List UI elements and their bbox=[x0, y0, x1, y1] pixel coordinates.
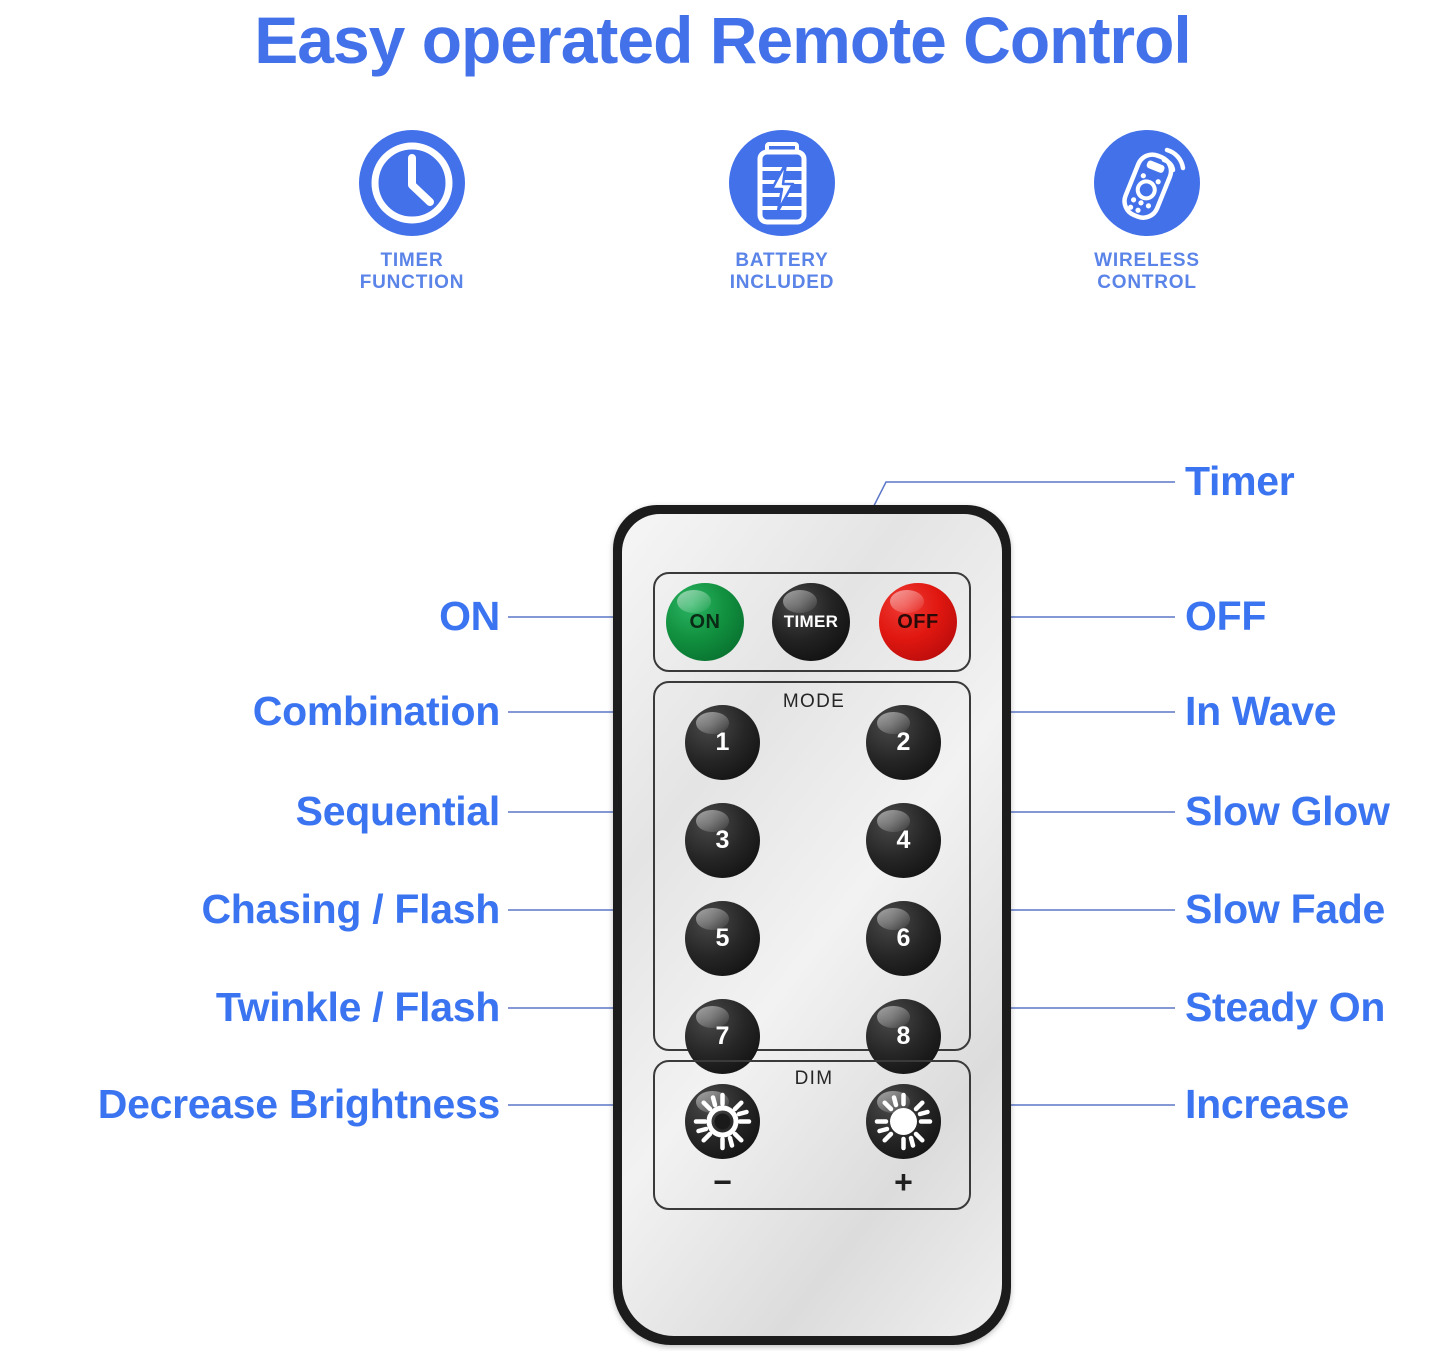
feature-caption: BATTERY INCLUDED bbox=[652, 250, 912, 294]
callout-off: OFF bbox=[1185, 596, 1266, 637]
feature-caption-line2: CONTROL bbox=[1017, 272, 1277, 294]
timer-button[interactable]: TIMER bbox=[772, 583, 850, 661]
callout-sequential: Sequential bbox=[0, 791, 500, 832]
page-title: Easy operated Remote Control bbox=[0, 2, 1445, 78]
dim-increase-sign: + bbox=[866, 1166, 941, 1198]
brightness-high-icon bbox=[866, 1084, 941, 1159]
feature-caption-line2: INCLUDED bbox=[652, 272, 912, 294]
feature-badges: TIMER FUNCTION BATTERY INCLUDED bbox=[0, 130, 1445, 320]
remote-faceplate: ON TIMER OFF MODE 1 2 3 4 5 6 7 8 DIM bbox=[622, 514, 1002, 1336]
callout-twinkle-flash: Twinkle / Flash bbox=[0, 987, 500, 1028]
feature-timer-function: TIMER FUNCTION bbox=[282, 130, 542, 294]
feature-wireless-control: WIRELESS CONTROL bbox=[1017, 130, 1277, 294]
callout-slow-glow: Slow Glow bbox=[1185, 791, 1390, 832]
brightness-high-icon-button[interactable] bbox=[866, 1084, 941, 1159]
callout-decrease-brightness: Decrease Brightness bbox=[0, 1084, 500, 1125]
callout-in-wave: In Wave bbox=[1185, 691, 1336, 732]
callout-slow-fade: Slow Fade bbox=[1185, 889, 1385, 930]
remote-signal-icon bbox=[1094, 130, 1200, 236]
mode-button-3[interactable]: 3 bbox=[685, 803, 760, 878]
feature-caption-line2: FUNCTION bbox=[282, 272, 542, 294]
mode-panel: MODE 1 2 3 4 5 6 7 8 bbox=[653, 681, 971, 1051]
callout-timer: Timer bbox=[1185, 461, 1294, 502]
brightness-low-icon bbox=[685, 1084, 760, 1159]
mode-button-5[interactable]: 5 bbox=[685, 901, 760, 976]
dim-decrease-sign: − bbox=[685, 1166, 760, 1198]
clock-icon bbox=[359, 130, 465, 236]
mode-button-2[interactable]: 2 bbox=[866, 705, 941, 780]
feature-caption-line1: WIRELESS bbox=[1017, 250, 1277, 272]
mode-button-1[interactable]: 1 bbox=[685, 705, 760, 780]
off-button[interactable]: OFF bbox=[879, 583, 957, 661]
feature-battery-included: BATTERY INCLUDED bbox=[652, 130, 912, 294]
feature-caption: WIRELESS CONTROL bbox=[1017, 250, 1277, 294]
callout-increase: Increase bbox=[1185, 1084, 1349, 1125]
callout-on: ON bbox=[0, 596, 500, 637]
callout-chasing-flash: Chasing / Flash bbox=[0, 889, 500, 930]
battery-icon bbox=[729, 130, 835, 236]
feature-caption-line1: TIMER bbox=[282, 250, 542, 272]
on-button[interactable]: ON bbox=[666, 583, 744, 661]
callout-steady-on: Steady On bbox=[1185, 987, 1385, 1028]
power-panel: ON TIMER OFF bbox=[653, 572, 971, 672]
feature-caption: TIMER FUNCTION bbox=[282, 250, 542, 294]
remote-control-device: ON TIMER OFF MODE 1 2 3 4 5 6 7 8 DIM bbox=[613, 505, 1011, 1345]
mode-button-4[interactable]: 4 bbox=[866, 803, 941, 878]
brightness-low-icon-button[interactable] bbox=[685, 1084, 760, 1159]
mode-button-6[interactable]: 6 bbox=[866, 901, 941, 976]
feature-caption-line1: BATTERY bbox=[652, 250, 912, 272]
dim-panel: DIM bbox=[653, 1060, 971, 1210]
callout-combination: Combination bbox=[0, 691, 500, 732]
